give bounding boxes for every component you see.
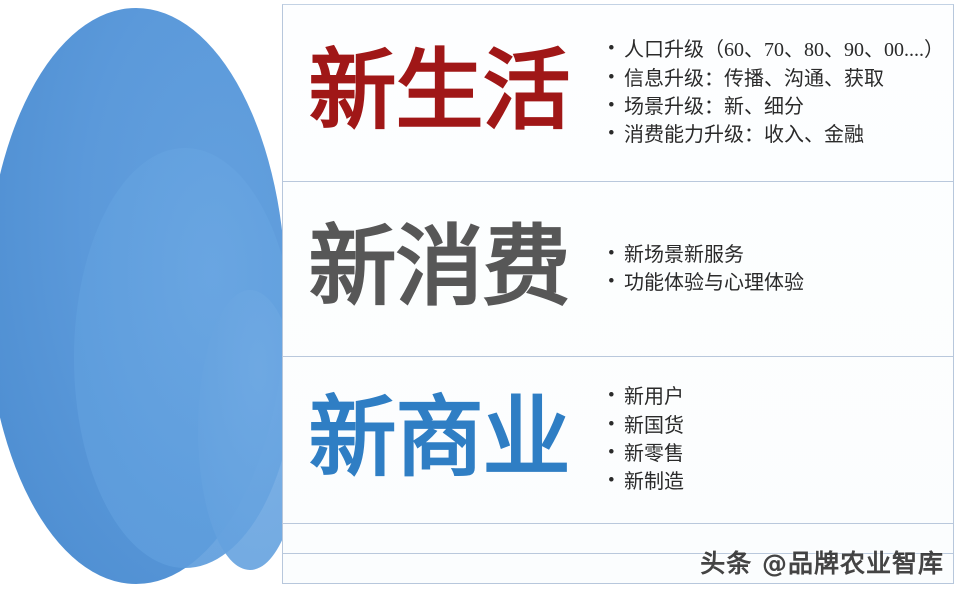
list-item: 新零售 — [607, 440, 945, 468]
tier-title-cell: 新消费 — [283, 182, 595, 356]
tier-detail-cell: 新场景新服务 功能体验与心理体验 — [595, 182, 953, 356]
slide-canvas: 新生活 人口升级（60、70、80、90、00....） 信息升级：传播、沟通、… — [0, 0, 962, 594]
tier-title-cell: 新商业 — [283, 357, 595, 523]
tier-detail-cell: 人口升级（60、70、80、90、00....） 信息升级：传播、沟通、获取 场… — [595, 5, 953, 181]
nested-semicircle-graphic — [0, 0, 300, 594]
bullet-list: 新用户 新国货 新零售 新制造 — [607, 383, 945, 497]
bullet-list: 新场景新服务 功能体验与心理体验 — [607, 241, 945, 298]
tier-title-cell — [283, 524, 595, 553]
table-row: 新商业 新用户 新国货 新零售 新制造 — [283, 357, 953, 524]
tier-detail-cell: 新用户 新国货 新零售 新制造 — [595, 357, 953, 523]
watermark: 头条 @品牌农业智库 — [700, 544, 944, 580]
tier-title-cell — [283, 554, 595, 582]
tier-title-cell: 新生活 — [283, 5, 595, 181]
list-item: 新场景新服务 — [607, 241, 945, 269]
list-item: 新国货 — [607, 412, 945, 440]
tier-title-new-consumption: 新消费 — [308, 223, 569, 311]
tier-title-new-business: 新商业 — [308, 394, 569, 482]
list-item: 功能体验与心理体验 — [607, 269, 945, 297]
list-item: 场景升级：新、细分 — [607, 93, 945, 121]
table-row: 新生活 人口升级（60、70、80、90、00....） 信息升级：传播、沟通、… — [283, 5, 953, 182]
list-item: 新制造 — [607, 468, 945, 496]
list-item: 消费能力升级：收入、金融 — [607, 121, 945, 149]
tier-title-new-life: 新生活 — [308, 47, 569, 135]
list-item: 信息升级：传播、沟通、获取 — [607, 65, 945, 93]
list-item: 新用户 — [607, 383, 945, 411]
tier-table: 新生活 人口升级（60、70、80、90、00....） 信息升级：传播、沟通、… — [282, 4, 954, 584]
bullet-list: 人口升级（60、70、80、90、00....） 信息升级：传播、沟通、获取 场… — [607, 36, 945, 150]
list-item: 人口升级（60、70、80、90、00....） — [607, 36, 945, 64]
table-row: 新消费 新场景新服务 功能体验与心理体验 — [283, 182, 953, 357]
